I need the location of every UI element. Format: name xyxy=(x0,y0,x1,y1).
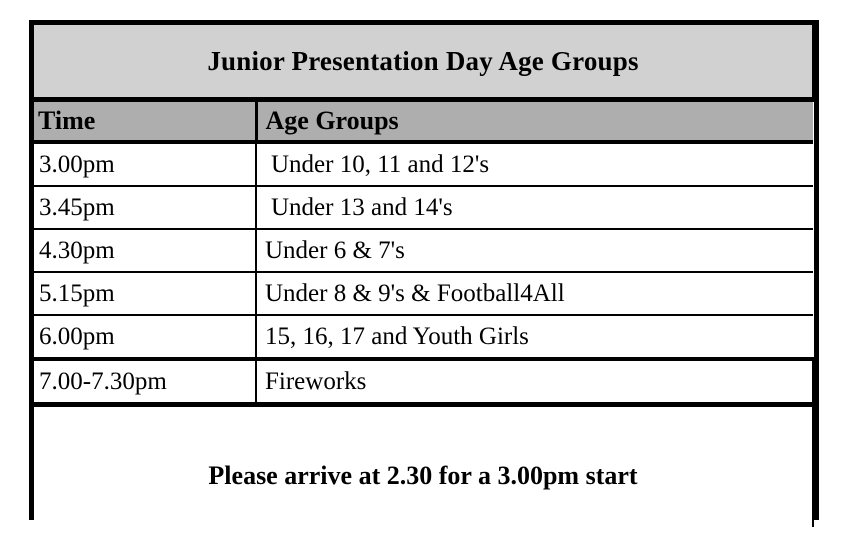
cell-age-groups: Under 6 & 7's xyxy=(256,229,813,272)
cell-time: 5.15pm xyxy=(34,272,256,315)
title-row: Junior Presentation Day Age Groups xyxy=(34,25,813,100)
cell-age-groups: Under 10, 11 and 12's xyxy=(256,142,813,186)
cell-age-groups: Under 8 & 9's & Football4All xyxy=(256,272,813,315)
page-title: Junior Presentation Day Age Groups xyxy=(34,25,813,100)
footer-note-row: Please arrive at 2.30 for a 3.00pm start xyxy=(34,405,813,528)
presentation-day-poster: Junior Presentation Day Age Groups Time … xyxy=(29,20,819,520)
cell-time: 3.00pm xyxy=(34,142,256,186)
arrival-note: Please arrive at 2.30 for a 3.00pm start xyxy=(34,461,812,491)
cell-time: 7.00-7.30pm xyxy=(34,359,256,405)
table-row: 6.00pm 15, 16, 17 and Youth Girls xyxy=(34,315,813,359)
column-header-time: Time xyxy=(34,100,256,143)
footer-note-cell: Please arrive at 2.30 for a 3.00pm start xyxy=(34,405,813,528)
table-row-fireworks: 7.00-7.30pm Fireworks xyxy=(34,359,813,405)
cell-age-groups: Under 13 and 14's xyxy=(256,186,813,229)
table-row: 3.45pm Under 13 and 14's xyxy=(34,186,813,229)
cell-time: 6.00pm xyxy=(34,315,256,359)
column-header-age-groups: Age Groups xyxy=(256,100,813,143)
cell-time: 3.45pm xyxy=(34,186,256,229)
table-header-row: Time Age Groups xyxy=(34,100,813,143)
schedule-table: Junior Presentation Day Age Groups Time … xyxy=(34,25,814,527)
cell-age-groups: Fireworks xyxy=(256,359,813,405)
table-row: 4.30pm Under 6 & 7's xyxy=(34,229,813,272)
table-row: 3.00pm Under 10, 11 and 12's xyxy=(34,142,813,186)
table-row: 5.15pm Under 8 & 9's & Football4All xyxy=(34,272,813,315)
cell-age-groups: 15, 16, 17 and Youth Girls xyxy=(256,315,813,359)
cell-time: 4.30pm xyxy=(34,229,256,272)
